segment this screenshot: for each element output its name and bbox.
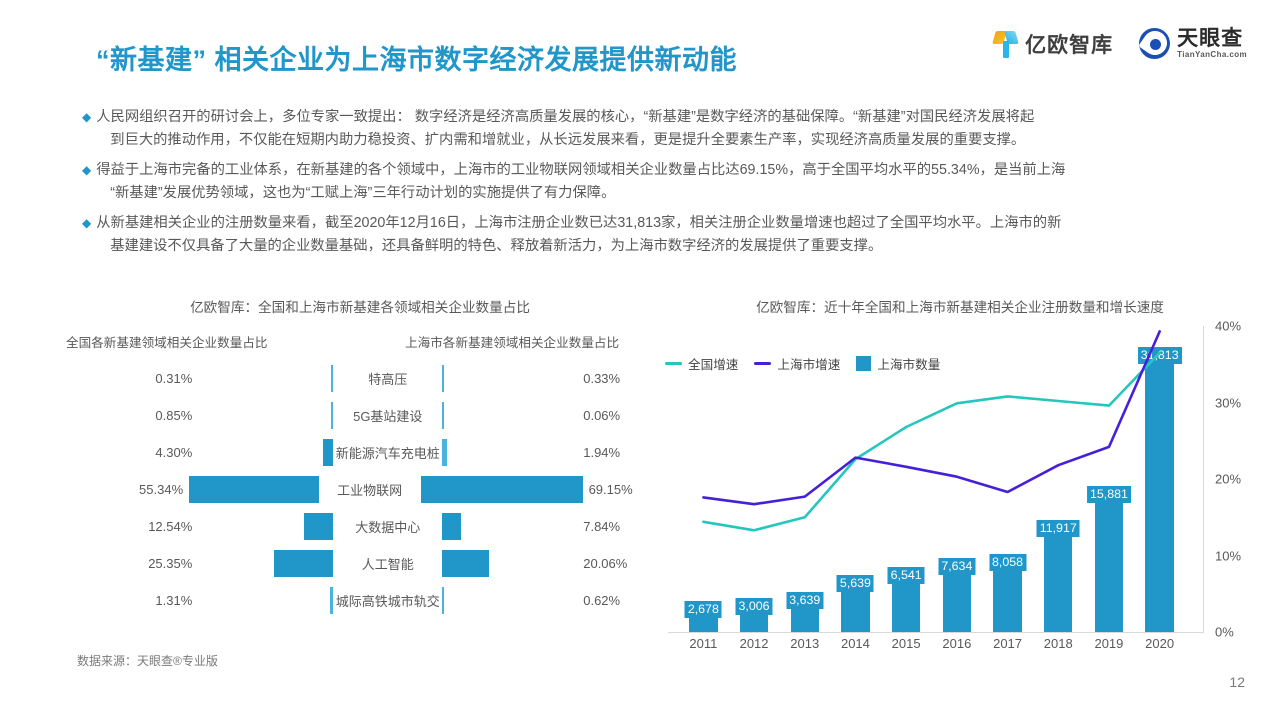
tornado-bar-shanghai-wrap — [442, 402, 577, 429]
source-note: 数据来源：天眼查®专业版 — [77, 652, 218, 669]
x-axis-tick-label: 2013 — [790, 636, 819, 651]
eo-logo-icon — [993, 29, 1019, 59]
page-number: 12 — [1229, 674, 1245, 690]
tornado-row: 55.34%工业物联网69.15% — [60, 471, 660, 508]
tornado-bar-shanghai-wrap — [421, 476, 583, 503]
x-axis-tick-label: 2018 — [1044, 636, 1073, 651]
tornado-category-label: 5G基站建设 — [333, 406, 442, 425]
y-axis-tick-label: 40% — [1215, 319, 1241, 334]
bullet-text: 得益于上海市完备的工业体系，在新基建的各个领域中，上海市的工业物联网领域相关企业… — [96, 159, 1065, 205]
x-axis-tick-label: 2012 — [740, 636, 769, 651]
x-axis-ticks: 2011201220132014201520162017201820192020 — [660, 636, 1205, 658]
tornado-value-national: 1.31% — [60, 593, 198, 608]
tornado-bar-shanghai-wrap — [442, 365, 577, 392]
tornado-bar-shanghai — [421, 476, 583, 503]
x-axis-tick-label: 2011 — [689, 636, 717, 651]
x-axis-tick-label: 2016 — [942, 636, 971, 651]
line-shanghai-growth — [703, 331, 1159, 504]
y-axis-line — [1203, 326, 1204, 632]
tornado-value-shanghai: 7.84% — [577, 519, 660, 534]
page-title: “新基建” 相关企业为上海市数字经济发展提供新动能 — [96, 38, 737, 77]
y-axis-ticks: 0%10%20%30%40% — [1208, 326, 1260, 632]
tornado-subtitle-national: 全国各新基建领域相关企业数量占比 — [66, 332, 268, 351]
tornado-category-label: 大数据中心 — [333, 517, 442, 536]
tornado-bar-national-wrap — [198, 587, 333, 614]
tornado-value-national: 12.54% — [60, 519, 198, 534]
eo-logo: 亿欧智库 — [993, 29, 1113, 59]
bullet-line: 基建建设不仅具备了大量的企业数量基础，还具备鲜明的特色、释放着新活力，为上海市数… — [96, 235, 1061, 258]
bullet-line: “新基建”发展优势领域，这也为“工赋上海”三年行动计划的实施提供了有力保障。 — [96, 182, 1065, 205]
tornado-bar-shanghai — [442, 587, 444, 614]
tornado-bar-national — [323, 439, 333, 466]
tornado-bar-national-wrap — [198, 513, 333, 540]
diamond-bullet-icon: ◆ — [82, 212, 91, 235]
tornado-bar-shanghai — [442, 513, 460, 540]
tornado-value-shanghai: 69.15% — [583, 482, 660, 497]
tornado-category-label: 新能源汽车充电桩 — [333, 443, 442, 462]
tornado-bar-national — [189, 476, 319, 503]
tornado-value-shanghai: 0.06% — [577, 408, 660, 423]
tornado-category-label: 人工智能 — [333, 554, 442, 573]
tianyancha-logo: 天眼查 TianYanCha.com — [1139, 28, 1247, 59]
tornado-rows: 0.31%特高压0.33%0.85%5G基站建设0.06%4.30%新能源汽车充… — [60, 360, 660, 619]
bullet-line: 得益于上海市完备的工业体系，在新基建的各个领域中，上海市的工业物联网领域相关企业… — [96, 162, 1065, 178]
x-axis-line — [668, 632, 1204, 633]
bullet-item: ◆ 得益于上海市完备的工业体系，在新基建的各个领域中，上海市的工业物联网领域相关… — [82, 159, 1232, 205]
tornado-bar-shanghai-wrap — [442, 550, 577, 577]
x-axis-tick-label: 2017 — [993, 636, 1022, 651]
tornado-row: 1.31%城际高铁城市轨交0.62% — [60, 582, 660, 619]
tornado-row: 12.54%大数据中心7.84% — [60, 508, 660, 545]
slide-header: “新基建” 相关企业为上海市数字经济发展提供新动能 亿欧智库 天眼查 TianY… — [0, 0, 1269, 88]
tornado-value-shanghai: 0.33% — [577, 371, 660, 386]
tornado-row: 0.85%5G基站建设0.06% — [60, 397, 660, 434]
tornado-row: 4.30%新能源汽车充电桩1.94% — [60, 434, 660, 471]
tornado-value-national: 0.85% — [60, 408, 198, 423]
diamond-bullet-icon: ◆ — [82, 159, 91, 182]
tornado-value-national: 4.30% — [60, 445, 198, 460]
bullet-text: 从新基建相关企业的注册数量来看，截至2020年12月16日，上海市注册企业数已达… — [96, 212, 1061, 258]
tornado-bar-shanghai — [442, 550, 489, 577]
y-axis-tick-label: 30% — [1215, 395, 1241, 410]
x-axis-tick-label: 2015 — [892, 636, 921, 651]
bullet-item: ◆ 人民网组织召开的研讨会上，多位专家一致提出： 数字经济是经济高质量发展的核心… — [82, 106, 1232, 152]
tornado-category-label: 工业物联网 — [319, 480, 421, 499]
tornado-bar-national — [274, 550, 333, 577]
tornado-bar-shanghai — [442, 402, 444, 429]
tornado-chart: 亿欧智库：全国和上海市新基建各领域相关企业数量占比 全国各新基建领域相关企业数量… — [60, 296, 660, 656]
tianyancha-logo-en: TianYanCha.com — [1177, 51, 1247, 59]
x-axis-tick-label: 2019 — [1094, 636, 1123, 651]
bullet-item: ◆ 从新基建相关企业的注册数量来看，截至2020年12月16日，上海市注册企业数… — [82, 212, 1232, 258]
bullet-text: 人民网组织召开的研讨会上，多位专家一致提出： 数字经济是经济高质量发展的核心，“… — [96, 106, 1034, 152]
tornado-value-shanghai: 20.06% — [577, 556, 660, 571]
bullet-line: 到巨大的推动作用，不仅能在短期内助力稳投资、扩内需和增就业，从长远发展来看，更是… — [96, 129, 1034, 152]
tornado-value-national: 55.34% — [60, 482, 189, 497]
y-axis-tick-label: 10% — [1215, 548, 1241, 563]
tornado-bar-national-wrap — [198, 550, 333, 577]
line-series-layer — [660, 326, 1205, 632]
chart-title-right: 亿欧智库：近十年全国和上海市新基建相关企业注册数量和增长速度 — [660, 296, 1260, 316]
tornado-bar-shanghai-wrap — [442, 587, 577, 614]
tianyancha-logo-words: 天眼查 TianYanCha.com — [1177, 28, 1247, 59]
tornado-bar-national-wrap — [198, 402, 333, 429]
bullet-line: 人民网组织召开的研讨会上，多位专家一致提出： 数字经济是经济高质量发展的核心，“… — [96, 109, 1034, 125]
x-axis-tick-label: 2014 — [841, 636, 870, 651]
combo-plot-area: 2,6783,0063,6395,6396,5417,6348,05811,91… — [660, 326, 1205, 632]
tornado-row: 25.35%人工智能20.06% — [60, 545, 660, 582]
combo-chart: 亿欧智库：近十年全国和上海市新基建相关企业注册数量和增长速度 全国增速 上海市增… — [660, 296, 1260, 656]
tianyancha-logo-cn: 天眼查 — [1177, 28, 1247, 49]
logo-group: 亿欧智库 天眼查 TianYanCha.com — [993, 28, 1247, 59]
x-axis-tick-label: 2020 — [1145, 636, 1174, 651]
tianyancha-logo-icon — [1139, 28, 1170, 59]
tornado-bar-shanghai-wrap — [442, 513, 577, 540]
chart-title-left: 亿欧智库：全国和上海市新基建各领域相关企业数量占比 — [60, 296, 660, 316]
y-axis-tick-label: 20% — [1215, 472, 1241, 487]
tornado-value-shanghai: 0.62% — [577, 593, 660, 608]
tornado-value-national: 0.31% — [60, 371, 198, 386]
tornado-value-national: 25.35% — [60, 556, 198, 571]
tornado-value-shanghai: 1.94% — [577, 445, 660, 460]
tornado-category-label: 城际高铁城市轨交 — [333, 591, 442, 610]
tornado-bar-national-wrap — [198, 439, 333, 466]
bullet-line: 从新基建相关企业的注册数量来看，截至2020年12月16日，上海市注册企业数已达… — [96, 215, 1061, 231]
tornado-bar-national-wrap — [198, 365, 333, 392]
tornado-bar-shanghai-wrap — [442, 439, 577, 466]
eo-logo-text: 亿欧智库 — [1025, 29, 1113, 59]
tornado-bar-shanghai — [442, 365, 444, 392]
tornado-bar-national-wrap — [189, 476, 319, 503]
y-axis-tick-label: 0% — [1215, 625, 1234, 640]
tornado-subtitles: 全国各新基建领域相关企业数量占比 上海市各新基建领域相关企业数量占比 — [60, 332, 660, 354]
tornado-bar-shanghai — [442, 439, 447, 466]
line-national-growth — [703, 353, 1159, 531]
bullet-list: ◆ 人民网组织召开的研讨会上，多位专家一致提出： 数字经济是经济高质量发展的核心… — [82, 106, 1232, 265]
tornado-bar-national — [304, 513, 333, 540]
diamond-bullet-icon: ◆ — [82, 106, 91, 129]
tornado-row: 0.31%特高压0.33% — [60, 360, 660, 397]
tornado-subtitle-shanghai: 上海市各新基建领域相关企业数量占比 — [405, 332, 619, 351]
tornado-category-label: 特高压 — [333, 369, 442, 388]
